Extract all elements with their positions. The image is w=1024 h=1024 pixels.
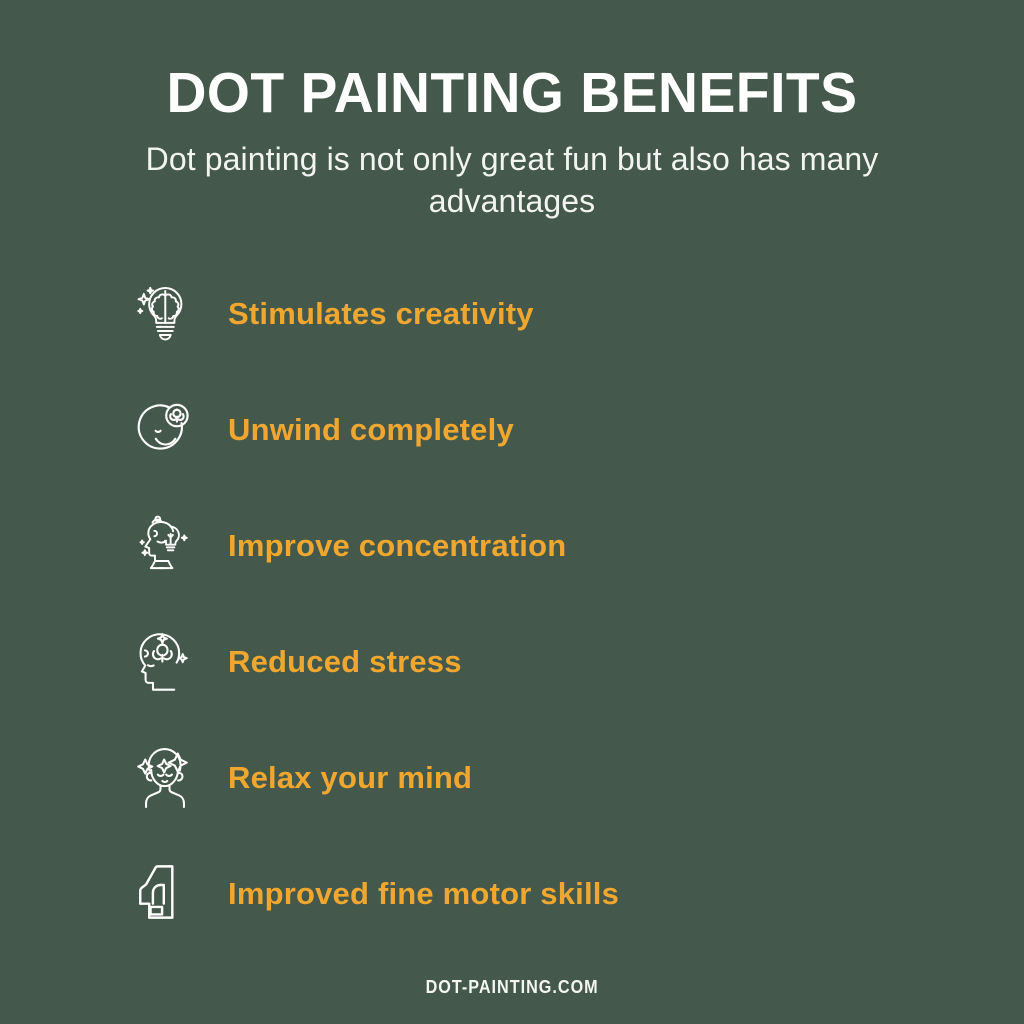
infographic-poster: DOT PAINTING BENEFITS Dot painting is no… bbox=[0, 0, 1024, 1024]
smiley-flower-icon bbox=[133, 395, 197, 465]
list-item: Improve concentration bbox=[133, 508, 893, 584]
benefit-label: Reduced stress bbox=[228, 644, 462, 680]
page-title: DOT PAINTING BENEFITS bbox=[15, 64, 1008, 124]
page-subtitle: Dot painting is not only great fun but a… bbox=[142, 138, 882, 222]
head-lightbulb-icon bbox=[133, 511, 197, 581]
list-item: Reduced stress bbox=[133, 624, 893, 700]
list-item: Stimulates creativity bbox=[133, 276, 893, 352]
benefit-label: Improve concentration bbox=[228, 528, 566, 564]
website-label: DOT-PAINTING.COM bbox=[425, 977, 598, 998]
list-item: Relax your mind bbox=[133, 740, 893, 816]
brain-lightbulb-icon bbox=[133, 279, 197, 349]
benefit-label: Improved fine motor skills bbox=[228, 876, 619, 912]
list-item: Improved fine motor skills bbox=[133, 856, 893, 932]
benefit-label: Unwind completely bbox=[228, 412, 514, 448]
benefit-label: Relax your mind bbox=[228, 760, 472, 796]
head-lotus-icon bbox=[133, 627, 197, 697]
benefits-list: Stimulates creativity Unwind completely bbox=[133, 276, 893, 932]
hand-pinch-icon bbox=[133, 859, 197, 929]
poster-footer: DOT-PAINTING.COM bbox=[0, 977, 1024, 998]
benefit-label: Stimulates creativity bbox=[228, 296, 534, 332]
face-stars-icon bbox=[133, 743, 197, 813]
list-item: Unwind completely bbox=[133, 392, 893, 468]
poster-header: DOT PAINTING BENEFITS Dot painting is no… bbox=[0, 0, 1024, 222]
